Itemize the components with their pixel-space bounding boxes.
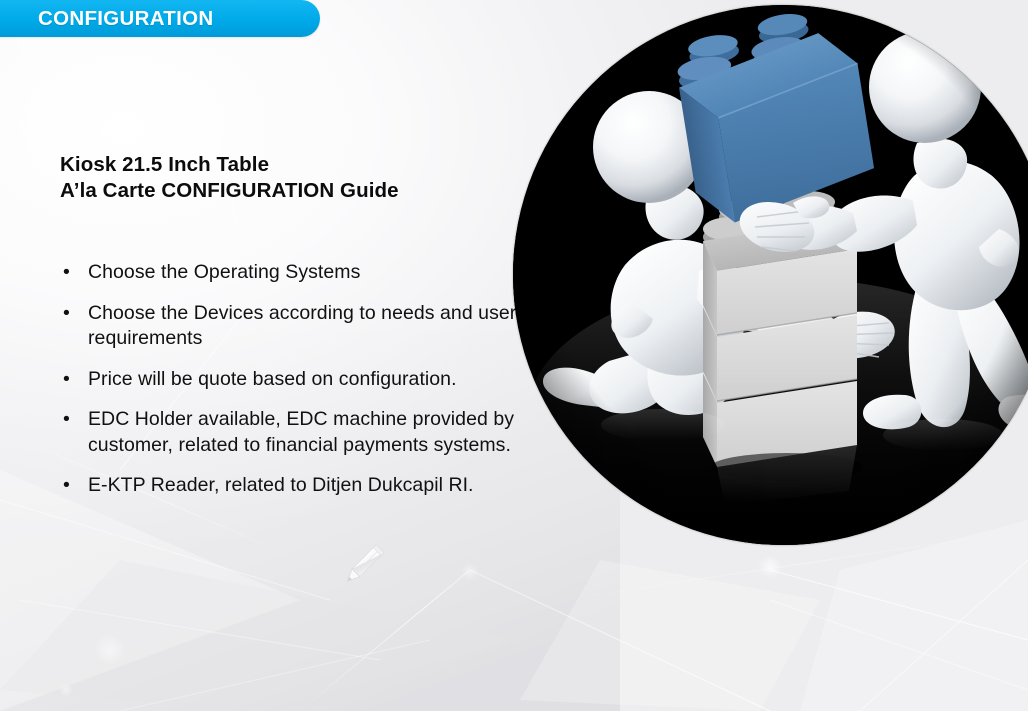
- list-item: • EDC Holder available, EDC machine prov…: [58, 407, 538, 458]
- slide-canvas: CONFIGURATION Kiosk 21.5 Inch Table A’la…: [0, 0, 1028, 711]
- bullet-list: • Choose the Operating Systems • Choose …: [58, 260, 538, 514]
- list-item-text: Choose the Devices according to needs an…: [88, 301, 538, 352]
- list-item: • Choose the Operating Systems: [58, 260, 538, 286]
- list-item: • E-KTP Reader, related to Ditjen Dukcap…: [58, 473, 538, 499]
- list-item-text: Price will be quote based on configurati…: [88, 367, 538, 393]
- list-item: • Price will be quote based on configura…: [58, 367, 538, 393]
- bullet-marker-icon: •: [63, 367, 70, 393]
- illustration-photo: [513, 5, 1028, 545]
- list-item-text: E-KTP Reader, related to Ditjen Dukcapil…: [88, 473, 538, 499]
- page-title-line-2: A’la Carte CONFIGURATION Guide: [60, 178, 530, 204]
- list-item-text: Choose the Operating Systems: [88, 260, 538, 286]
- bullet-marker-icon: •: [63, 407, 70, 433]
- illustration-svg: [513, 5, 1028, 545]
- configuration-banner: CONFIGURATION: [0, 0, 320, 37]
- page-title: Kiosk 21.5 Inch Table A’la Carte CONFIGU…: [60, 152, 530, 204]
- banner-label: CONFIGURATION: [38, 7, 213, 31]
- pencil-icon: [336, 540, 388, 592]
- bullet-marker-icon: •: [63, 260, 70, 286]
- bullet-marker-icon: •: [63, 473, 70, 499]
- bullet-marker-icon: •: [63, 301, 70, 327]
- list-item-text: EDC Holder available, EDC machine provid…: [88, 407, 538, 458]
- page-title-line-1: Kiosk 21.5 Inch Table: [60, 152, 530, 178]
- list-item: • Choose the Devices according to needs …: [58, 301, 538, 352]
